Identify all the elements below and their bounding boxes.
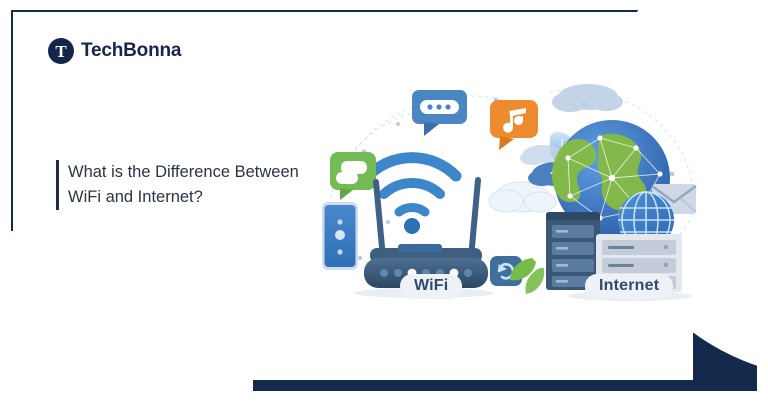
decorative-swoosh-bottom-left bbox=[11, 231, 311, 391]
logo-circle-icon: T bbox=[48, 38, 74, 64]
headline-line-2: WiFi and Internet? bbox=[68, 188, 203, 206]
logo-letter: T bbox=[55, 43, 66, 60]
page-title: What is the Difference Between WiFi and … bbox=[68, 160, 299, 210]
brand-name: TechBonna bbox=[81, 40, 181, 62]
label-wifi: WiFi bbox=[400, 274, 462, 299]
label-internet: Internet bbox=[585, 274, 673, 299]
brand-logo[interactable]: T TechBonna bbox=[48, 38, 181, 64]
headline-accent-bar bbox=[56, 160, 59, 210]
blog-banner: WiFi Internet T TechBonna What is the Di… bbox=[0, 0, 768, 403]
swoosh-bl-white bbox=[11, 231, 253, 391]
headline-block: What is the Difference Between WiFi and … bbox=[56, 160, 299, 210]
hero-illustration bbox=[300, 62, 700, 307]
headline-line-1: What is the Difference Between bbox=[68, 163, 299, 181]
